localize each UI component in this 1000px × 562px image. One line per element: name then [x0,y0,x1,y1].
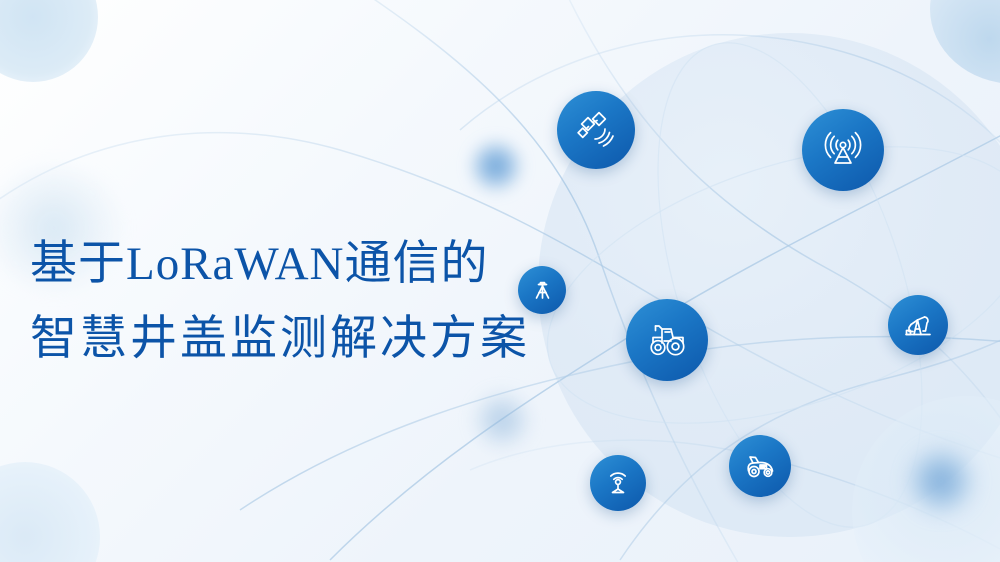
slide-title: 基于LoRaWAN通信的 智慧井盖监测解决方案 [30,228,530,374]
presentation-slide: 基于LoRaWAN通信的 智慧井盖监测解决方案 [0,0,1000,562]
node-radio-tower[interactable] [802,109,884,191]
satellite-icon [575,109,617,151]
node-satellite[interactable] [557,91,635,169]
node-wireless-sensor[interactable] [590,455,646,511]
survey-tripod-icon [529,277,556,304]
node-oil-pumpjack[interactable] [888,295,948,355]
node-tractor[interactable] [626,299,708,381]
node-harvester[interactable] [729,435,791,497]
harvester-icon [742,448,778,484]
wireless-sensor-icon [602,467,634,499]
title-line-2: 智慧井盖监测解决方案 [30,301,530,374]
tractor-icon [644,317,690,363]
title-line-1: 基于LoRaWAN通信的 [30,228,530,301]
radio-tower-icon [821,128,865,172]
oil-pumpjack-icon [901,308,935,342]
